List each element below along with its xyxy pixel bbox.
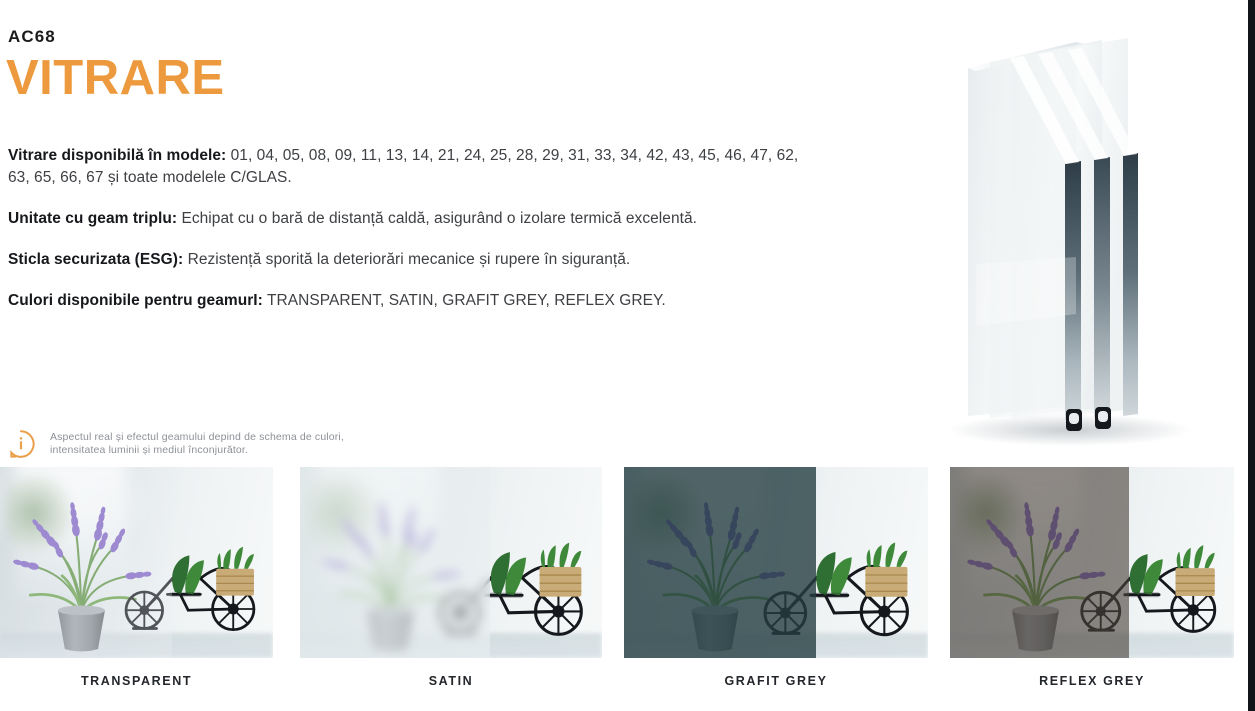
- spec-label-esg: Sticla securizata (ESG):: [8, 251, 183, 268]
- product-code: AC68: [8, 27, 56, 47]
- spec-paragraph-triple-unit: Unitate cu geam triplu: Echipat cu o bar…: [8, 208, 808, 230]
- disclaimer-text: Aspectul real și efectul geamului depind…: [50, 427, 344, 457]
- glass-sample-transparent[interactable]: [0, 467, 273, 658]
- spec-value-colors: TRANSPARENT, SATIN, GRAFIT GREY, REFLEX …: [263, 292, 666, 309]
- spec-paragraph-colors: Culori disponibile pentru geamurI: TRANS…: [8, 290, 808, 312]
- triple-glazing-unit-image: [880, 14, 1248, 454]
- spec-paragraph-models: Vitrare disponibilă în modele: 01, 04, 0…: [8, 145, 808, 189]
- glass-tint-overlay: [300, 467, 490, 658]
- glass-tint-overlay: [0, 467, 172, 658]
- sample-caption-grafit-grey: GRAFIT GREY: [624, 674, 928, 688]
- sample-caption-satin: SATIN: [300, 674, 602, 688]
- spec-label-triple-unit: Unitate cu geam triplu:: [8, 210, 177, 227]
- spec-paragraph-esg: Sticla securizata (ESG): Rezistență spor…: [8, 249, 808, 271]
- disclaimer-note: Aspectul real și efectul geamului depind…: [6, 427, 476, 459]
- spec-copy-block: Vitrare disponibilă în modele: 01, 04, 0…: [8, 145, 808, 331]
- spec-label-models: Vitrare disponibilă în modele:: [8, 147, 226, 164]
- sample-caption-transparent: TRANSPARENT: [0, 674, 273, 688]
- glass-tint-overlay: [950, 467, 1129, 658]
- sample-caption-reflex-grey: REFLEX GREY: [950, 674, 1234, 688]
- page-title: VITRARE: [6, 52, 225, 104]
- disclaimer-line-1: Aspectul real și efectul geamului depind…: [50, 431, 344, 444]
- glass-tint-overlay: [624, 467, 816, 658]
- glass-sample-satin[interactable]: [300, 467, 602, 658]
- info-icon: [6, 429, 36, 459]
- glass-sample-strip: [0, 467, 1248, 658]
- glass-sample-grafit-grey[interactable]: [624, 467, 928, 658]
- disclaimer-line-2: intensitatea luminii și mediul înconjură…: [50, 444, 344, 457]
- spec-label-colors: Culori disponibile pentru geamurI:: [8, 292, 263, 309]
- spec-value-triple-unit: Echipat cu o bară de distanță caldă, asi…: [177, 210, 697, 227]
- product-spec-page: AC68 VITRARE Vitrare disponibilă în mode…: [0, 0, 1248, 711]
- spec-value-esg: Rezistență sporită la deteriorări mecani…: [183, 251, 630, 268]
- glass-sample-reflex-grey[interactable]: [950, 467, 1234, 658]
